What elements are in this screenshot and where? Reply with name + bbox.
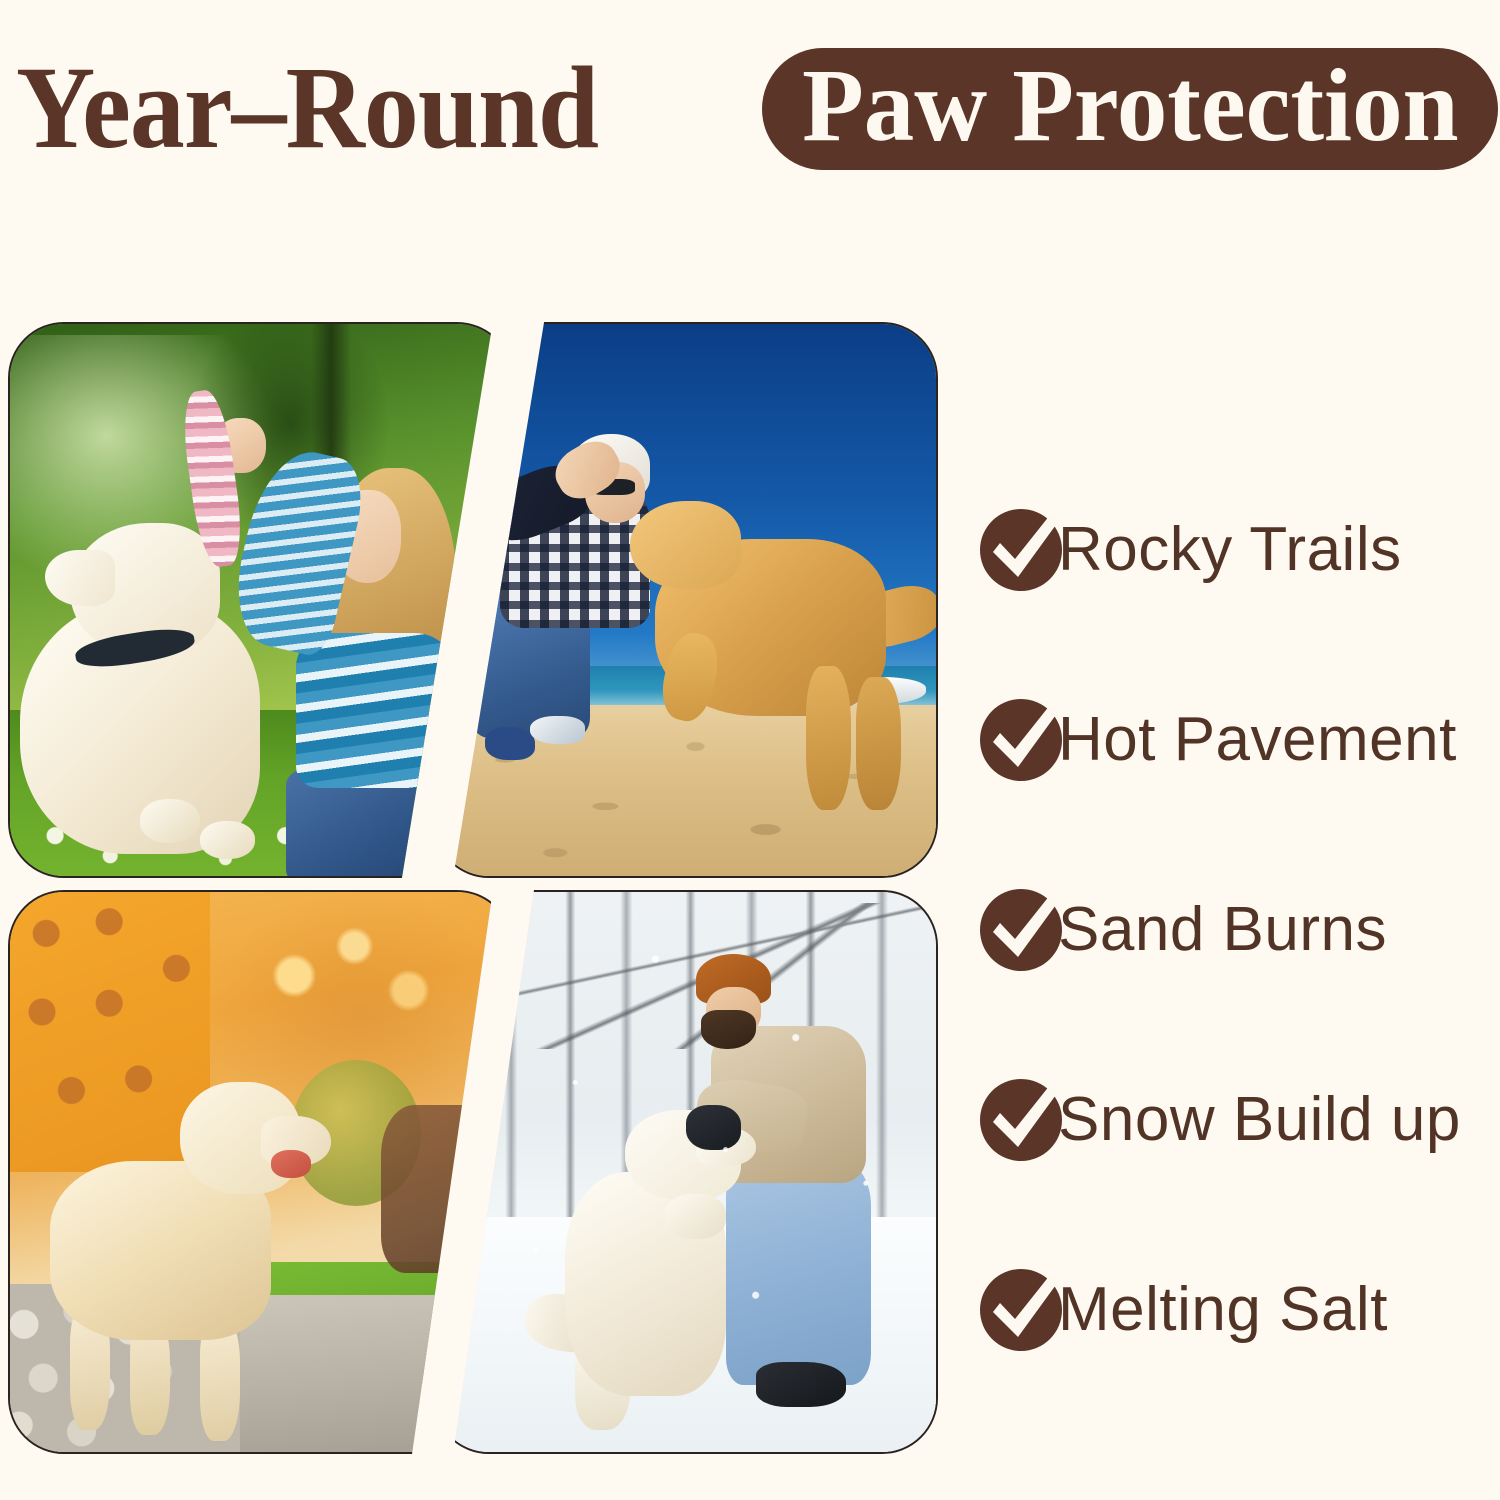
seasonal-photo-collage [8,322,938,1454]
dog-head [630,501,740,589]
checklist-item-label: Hot Pavement [1058,709,1457,771]
checklist-item-label: Sand Burns [1058,899,1387,961]
checklist-item-label: Melting Salt [1058,1279,1388,1341]
checklist-item: Snow Build up [980,1025,1500,1215]
scene-beach [435,324,936,876]
check-circle-icon [980,699,1062,781]
check-circle-icon [980,1269,1062,1351]
woman-shoe-left [485,727,535,760]
checklist-item: Rocky Trails [980,455,1500,645]
photo-spring-park [8,322,513,878]
checklist-item: Melting Salt [980,1215,1500,1405]
check-circle-icon [980,889,1062,971]
paw-protection-badge: Paw Protection [762,48,1498,170]
dog-front-paw-left [140,799,200,843]
photo-autumn-yard [8,890,513,1454]
dog-tongue [271,1150,311,1178]
crouching-person [381,1105,491,1273]
scene-spring [10,324,511,876]
check-circle-icon [980,509,1062,591]
dog-front-paw-right [200,821,255,860]
dog-hind-leg-left [806,666,851,810]
falling-snowflakes [435,892,936,1452]
scene-winter [435,892,936,1452]
photo-summer-beach [433,322,938,878]
scene-autumn [10,892,511,1452]
checklist-item: Sand Burns [980,835,1500,1025]
photo-winter-snow [433,890,938,1454]
benefits-checklist: Rocky Trails Hot Pavement Sand Burns Sno… [980,455,1500,1405]
check-circle-icon [980,1079,1062,1161]
woman-striped-sweater [296,633,456,788]
checklist-item: Hot Pavement [980,645,1500,835]
dog-snout [45,550,115,605]
page-title: Year–Round [16,43,598,167]
badge-label: Paw Protection [802,54,1458,164]
checklist-item-label: Snow Build up [1058,1089,1461,1151]
woman-shoe-right [530,716,585,744]
checklist-item-label: Rocky Trails [1058,519,1402,581]
dog-hind-leg-right [856,677,901,809]
